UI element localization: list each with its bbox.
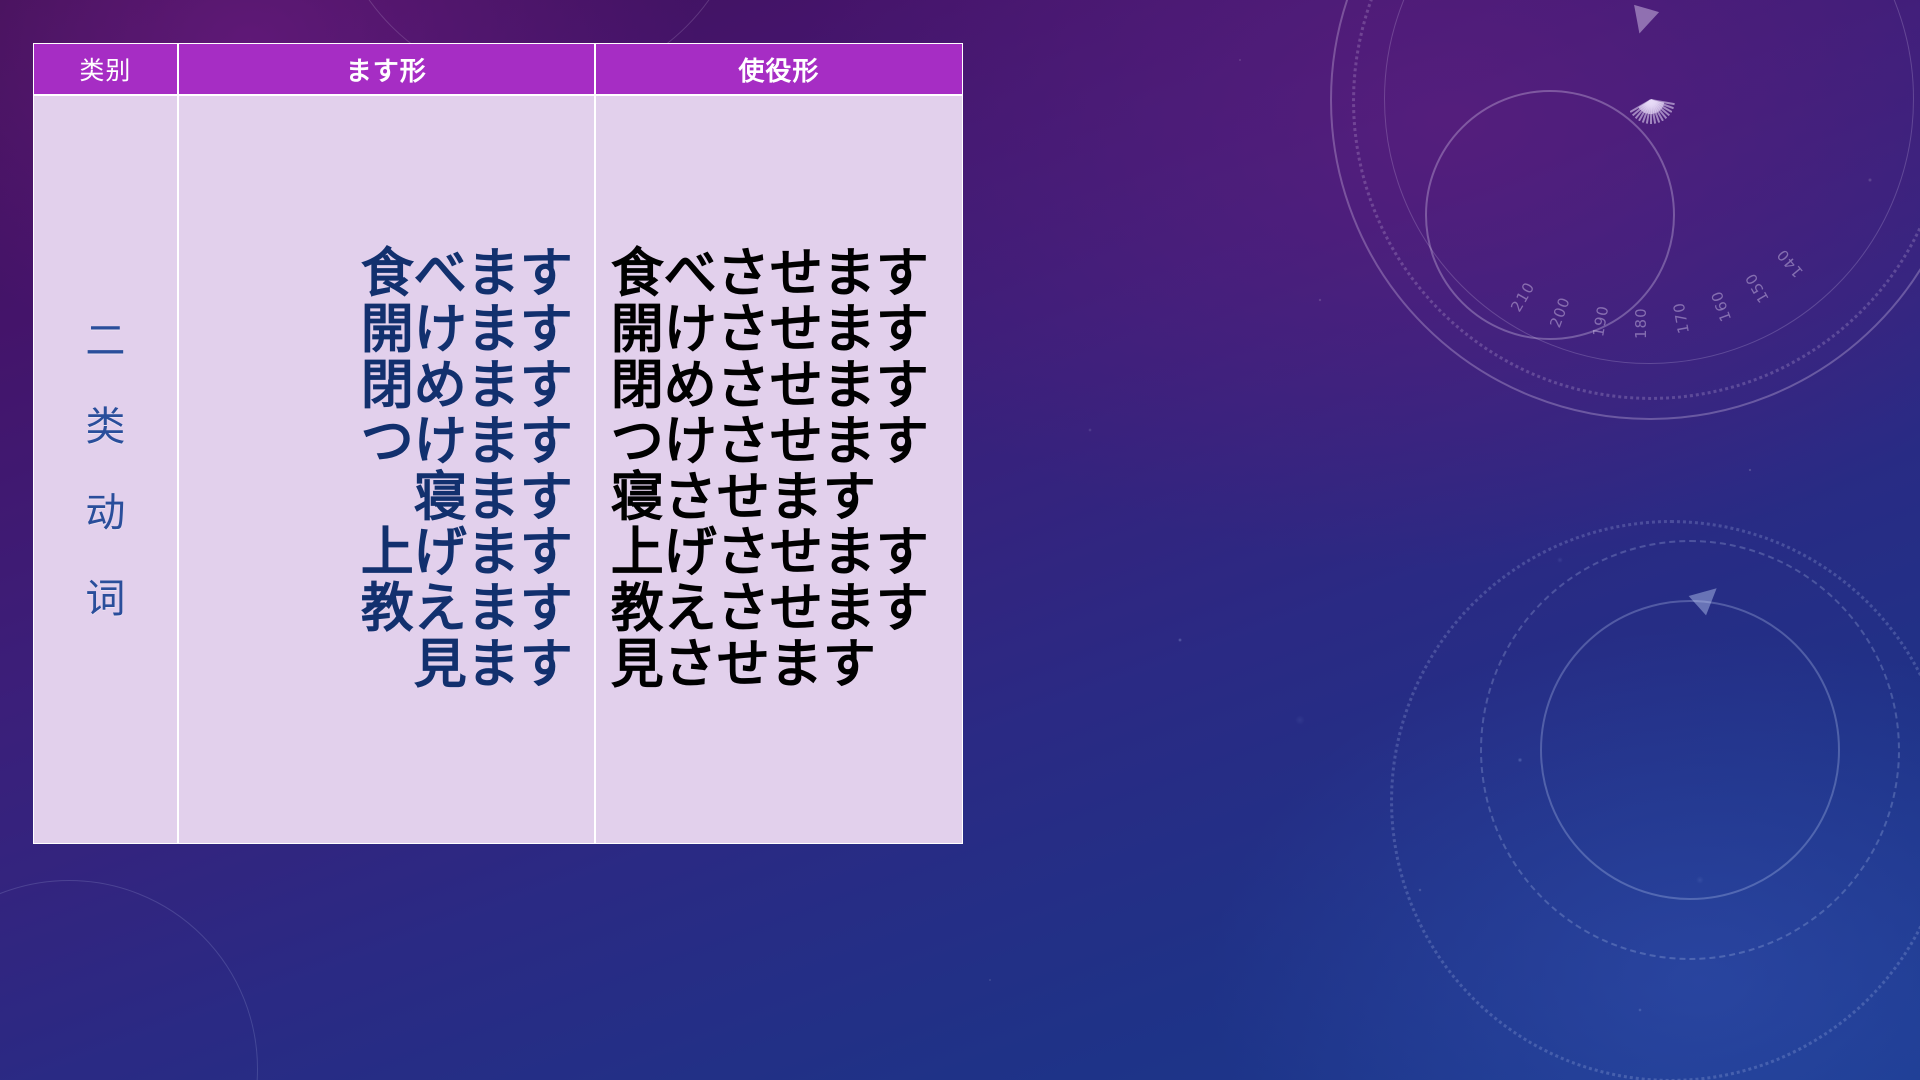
dial-tick (1650, 100, 1839, 359)
dial-tick (1651, 99, 1920, 157)
dial-tick (1650, 100, 1830, 366)
dial-degree-label: 200 (1547, 294, 1575, 330)
category-char: 二 (85, 321, 125, 361)
masu-form-item: 寝ます (414, 470, 573, 526)
table-head: 类别 ます形 使役形 (33, 43, 963, 95)
dial-tick (1373, 99, 1651, 261)
dial-tick (1650, 100, 1801, 383)
dial-inner-ring (1384, 0, 1914, 364)
dial-degree-label: 170 (1670, 301, 1693, 335)
dial-tick (1462, 100, 1651, 359)
dial-tick (1650, 100, 1771, 397)
table-body: 二类动词 食べます開けます閉めますつけます寝ます上げます教えます見ます 食べさせ… (33, 95, 963, 844)
dial-tick (1639, 100, 1651, 420)
dial-tick (1583, 100, 1651, 413)
dial-tick (1391, 100, 1650, 289)
dial-tick (1650, 100, 1920, 178)
causative-form-item: 閉めさせます (611, 358, 929, 414)
masu-form-item: 上げます (361, 525, 573, 581)
dial-tick (1650, 100, 1718, 413)
dial-tick (1605, 100, 1651, 417)
cell-masu-forms: 食べます開けます閉めますつけます寝ます上げます教えます見ます (178, 95, 595, 844)
causative-form-item: 上げさせます (611, 525, 929, 581)
dial-tick (1651, 99, 1920, 261)
dial-tick (1445, 99, 1652, 345)
dial-tick (1500, 100, 1651, 383)
causative-form-item: 寝させます (611, 470, 876, 526)
lower-dotted-arc-decoration (1390, 520, 1920, 1080)
compass-dial-decoration: 140150160170180190200210 (1330, 0, 1920, 420)
table-header-row: 类别 ます形 使役形 (33, 43, 963, 95)
dial-ticks (1330, 0, 1920, 420)
inner-circle-ring (1425, 90, 1675, 340)
dial-tick (1650, 100, 1791, 388)
dial-tick (1650, 100, 1662, 420)
dial-tick (1650, 100, 1909, 289)
dial-tick (1420, 100, 1651, 323)
dial-tick (1520, 100, 1651, 393)
dial-tick (1650, 100, 1848, 353)
masu-form-list: 食べます開けます閉めますつけます寝ます上げます教えます見ます (180, 246, 593, 693)
slide-canvas: 140150160170180190200210 类别 ます形 使役形 (0, 0, 1920, 1080)
dial-tick (1650, 100, 1684, 418)
cell-causative-forms: 食べさせます開けさせます閉めさせますつけさせます寝させます上げさせます教えさせま… (595, 95, 963, 844)
dial-tick (1562, 100, 1651, 408)
dial-tick (1379, 100, 1651, 270)
causative-form-item: 見させます (611, 637, 876, 693)
dial-tick (1453, 100, 1651, 353)
dial-tick (1510, 100, 1651, 388)
masu-form-item: 開けます (361, 302, 573, 358)
causative-form-item: 教えさせます (611, 581, 929, 637)
column-header-category: 类别 (33, 43, 178, 95)
masu-form-item: つけます (361, 414, 573, 470)
dial-tick (1650, 100, 1920, 221)
dial-tick (1650, 100, 1781, 393)
dial-tick (1650, 100, 1916, 280)
causative-form-item: つけさせます (611, 414, 929, 470)
dial-tick (1530, 100, 1651, 397)
dial-tick (1436, 100, 1651, 338)
dial-tick (1551, 100, 1651, 405)
causative-form-item: 食べさせます (611, 246, 929, 302)
dial-tick (1650, 100, 1652, 420)
dial-tick (1650, 100, 1881, 323)
table-row: 二类动词 食べます開けます閉めますつけます寝ます上げます教えます見ます 食べさせ… (33, 95, 963, 844)
cell-category: 二类动词 (33, 95, 178, 844)
column-header-causative-form: 使役形 (595, 43, 963, 95)
dial-tick (1412, 100, 1650, 315)
dial-dotted-ring (1352, 0, 1920, 400)
column-header-masu-form: ます形 (178, 43, 595, 95)
lower-pointer-arrow (1689, 579, 1726, 616)
masu-form-item: 教えます (361, 581, 573, 637)
lower-dotted-arc (1390, 520, 1920, 1080)
dial-tick (1650, 100, 1696, 417)
dial-tick (1428, 100, 1651, 331)
dial-tick (1398, 100, 1651, 298)
dial-tick (1650, 100, 1812, 378)
bottom-left-arc-decoration (0, 880, 260, 1080)
dial-tick (1541, 100, 1652, 401)
dial-degree-label: 210 (1507, 278, 1538, 314)
dial-tick (1650, 100, 1888, 315)
masu-form-item: 食べます (361, 246, 573, 302)
dial-outer-ring (1330, 0, 1920, 420)
dial-tick (1650, 100, 1920, 270)
category-char: 动 (85, 493, 125, 533)
category-vertical-label: 二类动词 (35, 97, 176, 842)
category-char: 类 (85, 407, 125, 447)
dial-tick (1650, 100, 1820, 372)
dial-tick (1617, 100, 1651, 418)
dial-tick (1650, 100, 1865, 338)
dial-degree-label: 160 (1707, 288, 1735, 324)
dial-tick (1650, 100, 1903, 298)
dial-tick (1650, 100, 1920, 168)
dial-tick (1650, 100, 1920, 241)
causative-form-item: 開けさせます (611, 302, 929, 358)
category-char: 词 (85, 579, 125, 619)
dial-tick (1650, 100, 1673, 419)
dial-tick (1385, 100, 1651, 280)
dial-tick (1650, 99, 1896, 306)
dial-tick (1471, 100, 1651, 366)
dial-degree-label: 140 (1773, 245, 1807, 281)
dial-tick (1650, 100, 1761, 401)
lower-ring-decoration (1540, 600, 1840, 900)
dial-tick (1650, 100, 1708, 415)
bottom-left-arc (0, 880, 258, 1080)
dial-tick (1594, 100, 1652, 415)
dial-pointer-arrow (1627, 5, 1659, 37)
dial-tick (1650, 100, 1873, 331)
lower-dashed-ring (1480, 540, 1900, 960)
verb-conjugation-table: 类别 ます形 使役形 二类动词 食べます開けます閉めますつけます寝ます上げます教… (33, 43, 963, 844)
dial-tick (1650, 100, 1920, 231)
masu-form-item: 閉めます (361, 358, 573, 414)
dial-tick (1481, 100, 1651, 372)
dial-tick (1650, 100, 1920, 200)
dial-tick (1628, 100, 1651, 419)
inner-circle-decoration (1425, 90, 1675, 340)
dial-tick (1573, 100, 1651, 411)
dial-tick (1651, 99, 1920, 210)
dial-tick (1650, 100, 1750, 405)
dial-tick (1650, 100, 1920, 189)
lower-outer-ring (1540, 600, 1840, 900)
dial-degree-label: 150 (1741, 269, 1772, 305)
dial-tick (1405, 99, 1651, 306)
causative-form-list: 食べさせます開けさせます閉めさせますつけさせます寝させます上げさせます教えさせま… (597, 246, 961, 693)
dial-tick (1650, 100, 1728, 411)
dial-degree-label: 190 (1589, 304, 1612, 338)
dial-tick (1650, 100, 1739, 408)
dial-tick (1650, 100, 1920, 251)
masu-form-item: 見ます (414, 637, 573, 693)
dial-tick (1490, 100, 1652, 378)
dial-degree-label: 180 (1632, 307, 1650, 339)
dial-tick (1650, 99, 1857, 345)
